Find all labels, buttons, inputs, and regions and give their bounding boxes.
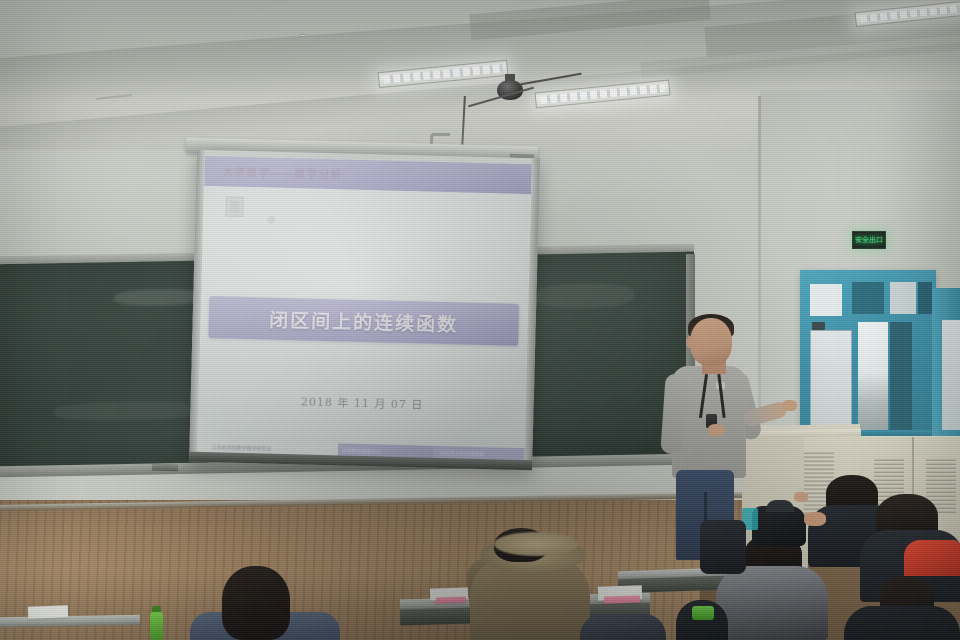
student-shoulders	[580, 614, 666, 640]
slide-footer-right: 闭区间上的连续函数	[439, 449, 484, 457]
presenter-right-hand	[782, 400, 797, 411]
green-drink-bottle	[150, 612, 163, 640]
presenter-ear	[686, 336, 694, 348]
exit-sign: 安全出口	[852, 231, 886, 249]
screen-bracket	[432, 133, 450, 136]
paper-sheet	[28, 605, 68, 618]
window-pane	[810, 284, 842, 316]
slide-title-bar: 闭区间上的连续函数	[208, 296, 519, 346]
student-red-shirt	[904, 540, 960, 576]
institution-logo-icon	[225, 196, 244, 216]
slide-title: 闭区间上的连续函数	[269, 305, 459, 337]
backpack-handle-icon	[766, 500, 794, 512]
window-pane	[918, 282, 932, 314]
window-pane	[890, 282, 916, 314]
window-pane	[852, 282, 884, 314]
window-latch-icon[interactable]	[812, 322, 825, 330]
projector-screen: 大学数学——数学分析 闭区间上的连续函数 2018 年 11 月 07 日 江苏…	[189, 150, 540, 471]
slide-date: 2018 年 11 月 07 日	[198, 391, 525, 415]
student-front-left-head	[222, 566, 290, 640]
projected-slide: 大学数学——数学分析 闭区间上的连续函数 2018 年 11 月 07 日 江苏…	[197, 156, 531, 462]
backpack	[752, 506, 806, 546]
student-grey-hoodie	[716, 566, 828, 640]
backpack	[700, 520, 746, 574]
presenter-left-hand	[708, 424, 725, 436]
corridor-shadow	[890, 322, 912, 434]
student-hand	[804, 512, 826, 526]
pink-notebook	[604, 595, 640, 603]
pink-notebook	[436, 596, 466, 603]
classroom-door[interactable]	[810, 330, 852, 430]
student-black-jacket	[844, 606, 960, 640]
slide-footer-middle: 大学数学课程中心	[341, 447, 381, 455]
secondary-door-glass	[942, 320, 960, 430]
classroom-photo: 大学数学——数学分析 闭区间上的连续函数 2018 年 11 月 07 日 江苏…	[0, 0, 960, 640]
slide-header-text: 大学数学——数学分析	[204, 163, 342, 182]
slide-decor-dot-icon	[267, 216, 275, 224]
slide-body: 闭区间上的连续函数 2018 年 11 月 07 日	[198, 186, 531, 448]
corridor-opening	[858, 322, 888, 434]
screen-weight-bar	[152, 464, 178, 472]
green-object	[692, 606, 714, 620]
slide-footer-left: 江苏省高校数学教学研究会	[211, 444, 271, 453]
parka-fur-trim	[494, 532, 578, 556]
presenter-head	[690, 318, 732, 366]
ceiling-hook	[300, 34, 306, 37]
exit-sign-text: 安全出口	[855, 235, 883, 245]
student-hand	[794, 492, 808, 502]
